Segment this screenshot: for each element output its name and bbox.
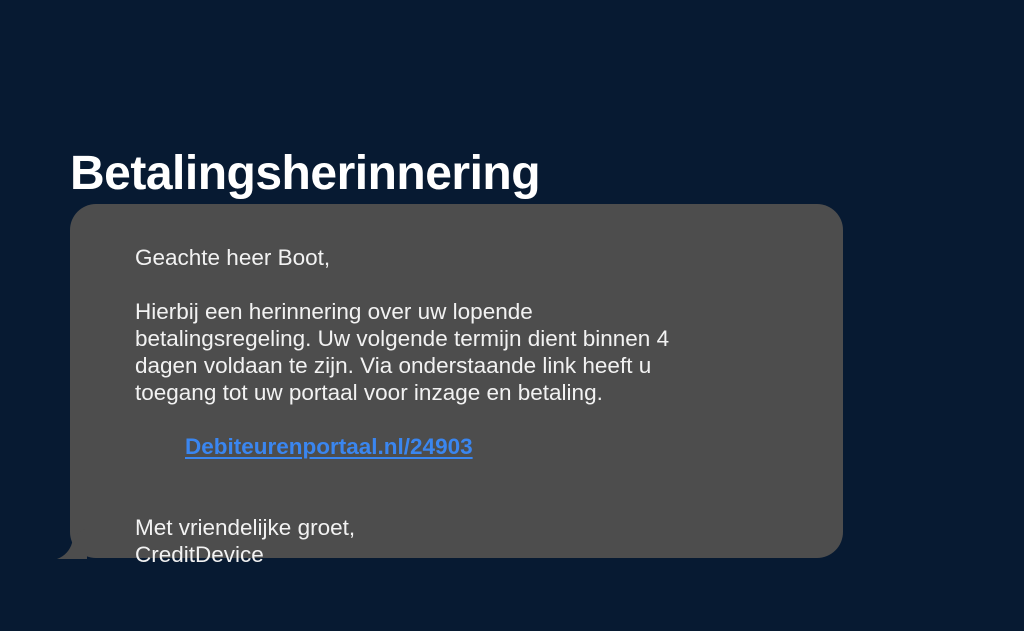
message-body: Geachte heer Boot, Hierbij een herinneri… (135, 244, 823, 568)
message-signature: CreditDevice (135, 541, 823, 568)
message-body-line-3: dagen voldaan te zijn. Via onderstaande … (135, 352, 823, 379)
message-body-line-2: betalingsregeling. Uw volgende termijn d… (135, 325, 823, 352)
message-spacer (135, 487, 823, 514)
message-link-line: Debiteurenportaal.nl/24903 (135, 406, 823, 487)
message-body-line-1: Hierbij een herinnering over uw lopende (135, 298, 823, 325)
message-greeting: Geachte heer Boot, (135, 244, 823, 271)
message-body-line-4: toegang tot uw portaal voor inzage en be… (135, 379, 823, 406)
message-bubble-tail-icon (53, 529, 87, 559)
message-closing-line-1: Met vriendelijke groet, (135, 514, 823, 541)
message-bubble: Geachte heer Boot, Hierbij een herinneri… (70, 204, 843, 558)
message-spacer (135, 271, 823, 298)
debtor-portal-link[interactable]: Debiteurenportaal.nl/24903 (185, 433, 473, 460)
page-title: Betalingsherinnering (70, 148, 540, 201)
screen-root: Betalingsherinnering Geachte heer Boot, … (0, 0, 1024, 631)
